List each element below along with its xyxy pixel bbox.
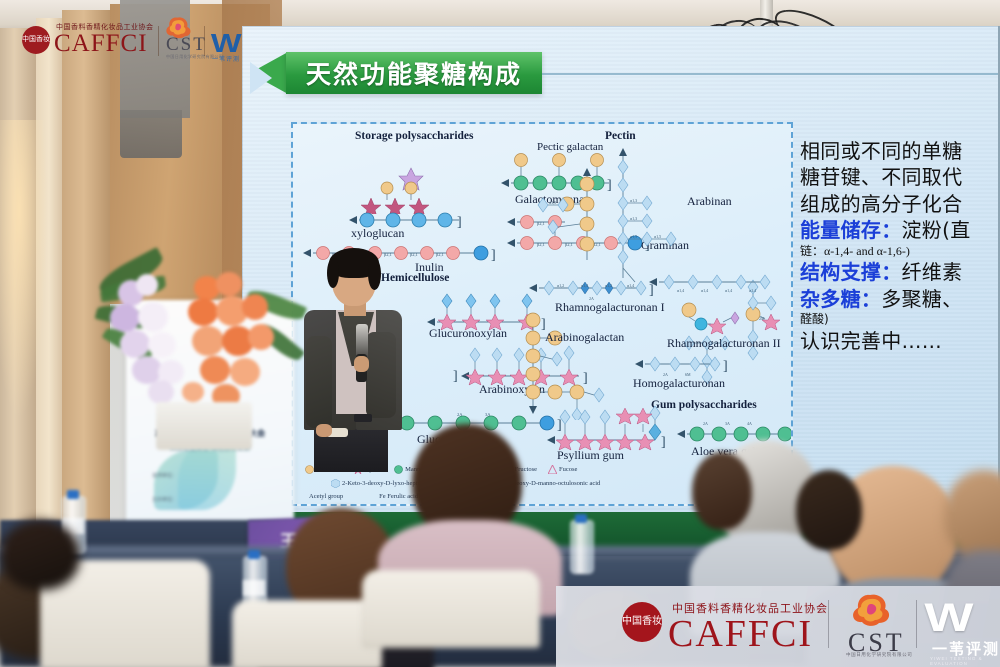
svg-text:2M: 2M [759, 316, 765, 321]
svg-text:]: ] [723, 359, 728, 374]
slide-title: 天然功能聚糖构成 [286, 52, 542, 94]
speaker-hair-side [368, 258, 381, 290]
legend-item: Acetyl group [309, 493, 343, 500]
diagram-label-arabinan: Arabinan [687, 194, 732, 209]
svg-text:]: ] [453, 369, 458, 384]
speaker-arm-right [366, 332, 396, 418]
screenshot-root: 中国香妆 中国香料香精化妆品工业协会 CAFFCI CST 中国日用化学研究院有… [0, 0, 1000, 667]
svg-text:α1,4: α1,4 [677, 288, 684, 294]
wall-light-glow [0, 120, 48, 420]
speaker-belt-pack [354, 414, 372, 422]
wall-column-base [120, 110, 182, 158]
cst-logo-sub: 中国日用化学研究院有限公司 [846, 652, 912, 658]
caffci-name-en: CAFFCI [668, 612, 813, 656]
audience-member [0, 520, 120, 600]
right-text-line4: 能量储存：淀粉(直 [800, 217, 1000, 243]
svg-text:α1,4: α1,4 [701, 288, 708, 294]
banner-divider [828, 600, 829, 648]
audience-member [692, 452, 762, 562]
cst-logo-text: CST [166, 34, 207, 56]
right-text-line4-val: 淀粉(直 [902, 218, 971, 242]
right-text-line2: 糖苷键、不同取代 [800, 164, 1000, 190]
right-text-line7: 杂多糖：多聚糖、 [800, 286, 1000, 312]
diagram-label-homogalacturonan: Homogalacturonan [633, 376, 725, 391]
right-text-line8: 醛酸) [800, 312, 1000, 328]
logo-divider [158, 26, 159, 56]
speaker-arm-left [306, 336, 332, 428]
yiwei-name-en: YIWEI TESTING & EVALUATION [930, 656, 1000, 666]
right-text-line7-val: 多聚糖、 [881, 287, 962, 311]
slide-right-text: 相同或不同的单糖 糖苷键、不同取代 组成的高分子化合 能量储存：淀粉(直 链：α… [800, 138, 1000, 354]
poster-host-label: 主办单位： [152, 496, 177, 503]
right-text-line7-key: 杂多糖： [800, 287, 881, 311]
svg-text:]: ] [457, 215, 462, 230]
diagram-label-arabinogalactan: Arabinogalactan [545, 330, 624, 345]
diagram-label-inulin: Inulin [415, 260, 444, 275]
svg-text:2A: 2A [457, 412, 463, 417]
caffci-seal-icon: 中国香妆 [22, 26, 50, 54]
diagram-label-glucuronoxylan: Glucuronoxylan [429, 326, 507, 341]
water-bottle [570, 520, 594, 574]
title-ribbon-notch [250, 62, 272, 94]
svg-text:]: ] [491, 248, 496, 263]
bottle-cap [67, 490, 79, 499]
cst-flower-icon [848, 592, 892, 628]
right-text-line6: 结构支撑：纤维素 [800, 259, 1000, 285]
yiwei-name-cn: 一苇评测 [212, 54, 240, 63]
right-text-line6-key: 结构支撑： [800, 260, 902, 284]
bottle-cap [575, 514, 587, 523]
right-text-line5: 链：α-1,4- and α-1,6-) [800, 244, 1000, 260]
audience-chair [362, 570, 540, 648]
speaker-hand-left [316, 424, 332, 437]
yiwei-w-icon: W [924, 596, 973, 641]
svg-text:α1,4: α1,4 [749, 288, 756, 294]
right-text-line3: 组成的高分子化合 [800, 191, 1000, 217]
svg-text:3A: 3A [485, 412, 491, 417]
svg-text:α1,4: α1,4 [725, 288, 732, 294]
diagram-heading-storage: Storage polysaccharides [355, 130, 474, 142]
right-text-line1: 相同或不同的单糖 [800, 138, 1000, 164]
legend-label: Acetyl group [309, 493, 343, 500]
svg-text:]: ] [661, 435, 666, 450]
poster-support-label: 支持单位： [152, 472, 177, 479]
wall-logo-strip: 中国香妆 中国香料香精化妆品工业协会 CAFFCI CST 中国日用化学研究院有… [18, 8, 258, 66]
svg-text:3A: 3A [725, 421, 730, 426]
diagram-label-psyllium-gum: Psyllium gum [557, 448, 624, 463]
diagram-label-xyloglucan: xyloglucan [351, 226, 404, 241]
microphone [356, 324, 368, 358]
diagram-label-pectic-galactan: Pectic galactan [537, 142, 603, 154]
diagram-label-rhamnogalacturonan-2: Rhamnogalacturonan II [667, 336, 781, 351]
right-text-line4-key: 能量储存： [800, 218, 902, 242]
legend-label: Fucose [559, 466, 577, 473]
right-text-line9: 认识完善中…… [800, 328, 1000, 354]
audience-member [796, 470, 866, 570]
svg-text:4A: 4A [747, 421, 752, 426]
svg-text:β2,1: β2,1 [436, 252, 444, 258]
title-rule [542, 73, 998, 75]
caffci-name-en: CAFFCI [54, 30, 148, 58]
caffci-seal-icon: 中国香妆 [622, 602, 662, 642]
svg-text:2A: 2A [703, 421, 708, 426]
audience-chair [232, 600, 382, 667]
speaker-hand-holding-mic [354, 356, 369, 372]
diagram-heading-pectin: Pectin [605, 130, 636, 142]
banner-divider [916, 600, 917, 648]
floral-arrangement [96, 262, 310, 452]
right-text-line6-val: 纤维素 [902, 260, 963, 284]
speaker-hair-side [327, 258, 339, 288]
logo-divider [204, 26, 205, 56]
